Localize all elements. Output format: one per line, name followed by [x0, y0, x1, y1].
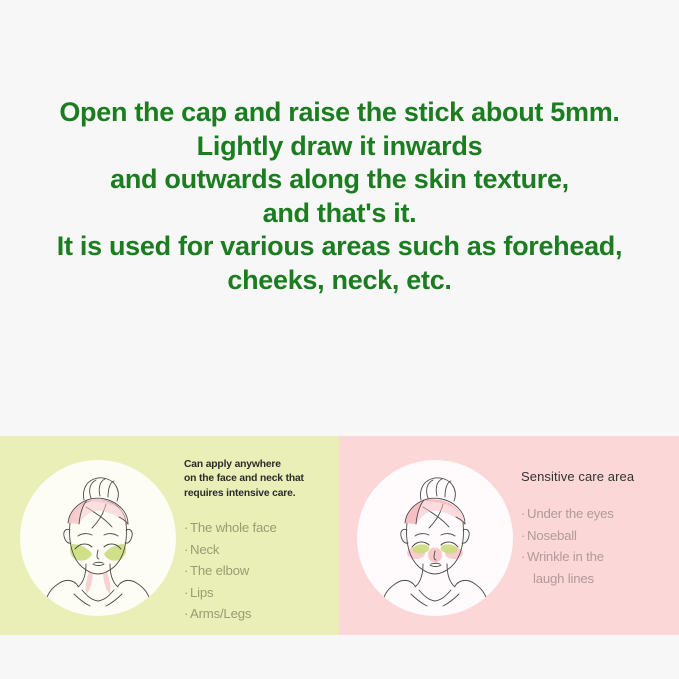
headline-line-3: and outwards along the skin texture, — [0, 163, 679, 197]
woman-face-cheeks-neck-icon — [20, 460, 176, 616]
care-area-panels: Can apply anywhere on the face and neck … — [0, 436, 679, 635]
list-item-label: The elbow — [190, 560, 249, 582]
headband — [405, 499, 464, 524]
list-item-label: Neck — [190, 539, 219, 561]
sensitive-care-text: Sensitive care area · Under the eyes · N… — [521, 458, 677, 589]
instruction-headline: Open the cap and raise the stick about 5… — [0, 96, 679, 297]
neck-accent-marks — [86, 572, 111, 594]
headline-line-2: Lightly draw it inwards — [0, 130, 679, 164]
list-item: · The whole face — [184, 517, 334, 539]
face-illustration-circle-left — [20, 460, 176, 616]
sensitive-care-heading: Sensitive care area — [521, 469, 677, 485]
list-item-label: Noseball — [527, 525, 577, 547]
list-item: · Lips — [184, 582, 334, 604]
general-care-text: Can apply anywhere on the face and neck … — [184, 458, 334, 625]
list-item-label: Under the eyes — [527, 503, 614, 525]
illustration-sensitive-care — [357, 460, 513, 616]
panel-sensitive-care: Sensitive care area · Under the eyes · N… — [339, 436, 679, 635]
nose-accent-mark — [428, 548, 442, 563]
list-item: · The elbow — [184, 560, 334, 582]
list-item: · Neck — [184, 539, 334, 561]
sensitive-care-bullet-list: · Under the eyes · Noseball · Wrinkle in… — [521, 503, 677, 589]
list-item-continuation: laugh lines — [521, 568, 677, 590]
list-item: · Under the eyes — [521, 503, 677, 525]
list-item: · Noseball — [521, 525, 677, 547]
face-illustration-circle-right — [357, 460, 513, 616]
headline-line-1: Open the cap and raise the stick about 5… — [0, 96, 679, 130]
illustration-general-care — [20, 460, 176, 616]
headline-line-5: It is used for various areas such as for… — [0, 230, 679, 264]
headline-line-6: cheeks, neck, etc. — [0, 264, 679, 298]
list-item-label: Wrinkle in the — [527, 546, 604, 568]
general-care-heading-line-3: requires intensive care. — [184, 487, 334, 501]
list-item-label: The whole face — [190, 517, 277, 539]
general-care-heading: Can apply anywhere on the face and neck … — [184, 458, 334, 501]
list-item-label: laugh lines — [527, 568, 594, 590]
list-item-label: Arms/Legs — [190, 603, 251, 625]
woman-face-under-eyes-nose-icon — [357, 460, 513, 616]
list-item: · Arms/Legs — [184, 603, 334, 625]
general-care-heading-line-1: Can apply anywhere — [184, 458, 334, 472]
general-care-bullet-list: · The whole face · Neck · The elbow · Li… — [184, 517, 334, 625]
panel-general-care: Can apply anywhere on the face and neck … — [0, 436, 339, 635]
general-care-heading-line-2: on the face and neck that — [184, 472, 334, 486]
headline-line-4: and that's it. — [0, 197, 679, 231]
list-item-label: Lips — [190, 582, 213, 604]
list-item: · Wrinkle in the — [521, 546, 677, 568]
headband — [68, 499, 127, 524]
